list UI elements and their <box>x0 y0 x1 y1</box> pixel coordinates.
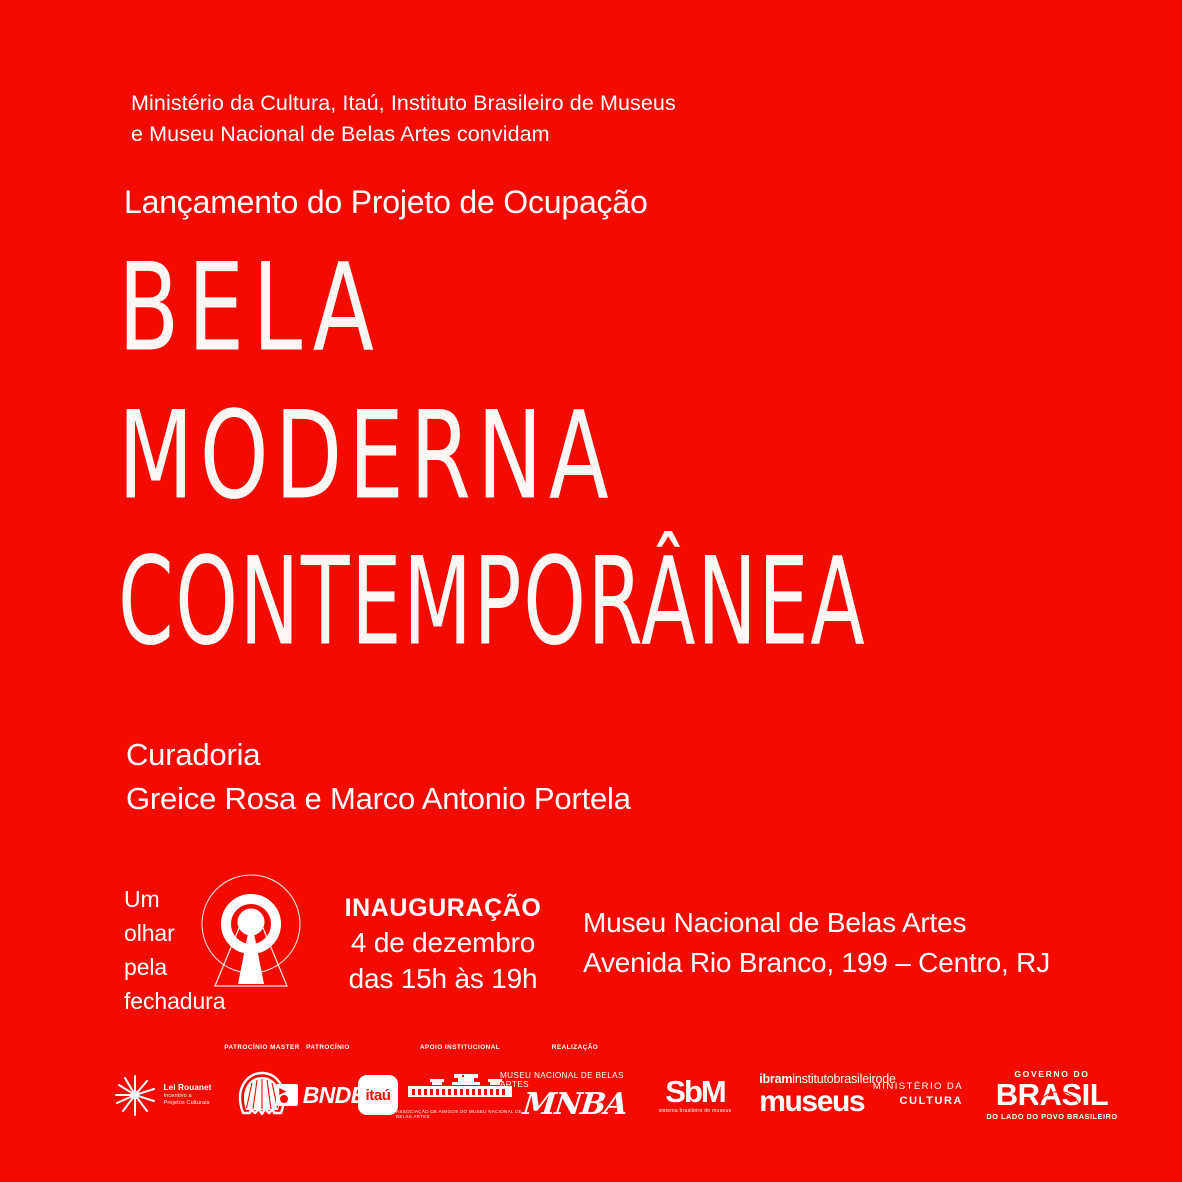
title-line-3: CONTEMPORÂNEA <box>118 537 897 669</box>
title-line-2: MODERNA <box>118 391 973 523</box>
gov-brasil-logo-icon: GOVERNO DO BRASIL DO LADO DO POVO BRASIL… <box>986 1069 1117 1122</box>
inauguration-heading: INAUGURAÇÃO <box>318 892 568 925</box>
sponsor-label: REALIZAÇÃO <box>500 1044 650 1051</box>
museum-building-icon <box>406 1071 514 1107</box>
sponsor-name: itaú <box>365 1087 390 1104</box>
venue-address: Museu Nacional de Belas Artes Avenida Ri… <box>583 903 1050 983</box>
minc-line-1: MINISTÉRIO DA <box>873 1081 963 1094</box>
sponsor-subtitle: sistema brasileiro de museus <box>659 1108 732 1114</box>
mnba-script-icon: MNBA <box>522 1090 628 1120</box>
curation-credits: Curadoria Greice Rosa e Marco Antonio Po… <box>126 733 631 821</box>
sponsor-ministerio-cultura: MINISTÉRIO DA CULTURA <box>862 1034 974 1139</box>
display-title: BELA MODERNA CONTEMPORÂNEA <box>118 250 1068 662</box>
title-line-1: BELA <box>118 243 992 375</box>
poster-canvas: Ministério da Cultura, Itaú, Instituto B… <box>0 0 1182 1182</box>
invite-header: Ministério da Cultura, Itaú, Instituto B… <box>131 88 676 150</box>
sbm-logo-icon: SbM sistema brasileiro de museus <box>659 1076 732 1114</box>
bndes-mark-icon <box>276 1084 298 1106</box>
sponsor-name-big: museus <box>759 1087 864 1117</box>
keyhole-icon <box>194 872 309 990</box>
project-kicker: Lançamento do Projeto de Ocupação <box>124 181 648 223</box>
keyhole-lockup: Um olhar pela fechadura <box>124 874 304 999</box>
inauguration-date: 4 de dezembro <box>318 925 568 961</box>
sponsor-governo-brasil: GOVERNO DO BRASIL DO LADO DO POVO BRASIL… <box>962 1034 1142 1139</box>
minc-logo-icon: MINISTÉRIO DA CULTURA <box>873 1081 963 1109</box>
inauguration-hours: das 15h às 19h <box>318 961 568 997</box>
itau-square-icon: itaú <box>358 1075 398 1115</box>
sponsor-name: SbM <box>665 1076 724 1107</box>
sponsor-strip: Lei Rouanet Incentivo a Projetos Cultura… <box>0 1034 1182 1144</box>
starburst-icon <box>113 1073 157 1117</box>
sponsor-mnba: REALIZAÇÃO MUSEU NACIONAL DE BELAS ARTES… <box>500 1034 650 1139</box>
inauguration-block: INAUGURAÇÃO 4 de dezembro das 15h às 19h <box>318 892 568 997</box>
info-row: Um olhar pela fechadura INAUGURAÇÃO 4 de… <box>0 866 1182 1006</box>
sponsor-name: MUSEU NACIONAL DE BELAS ARTES <box>500 1071 650 1089</box>
minc-line-2: CULTURA <box>873 1094 963 1109</box>
